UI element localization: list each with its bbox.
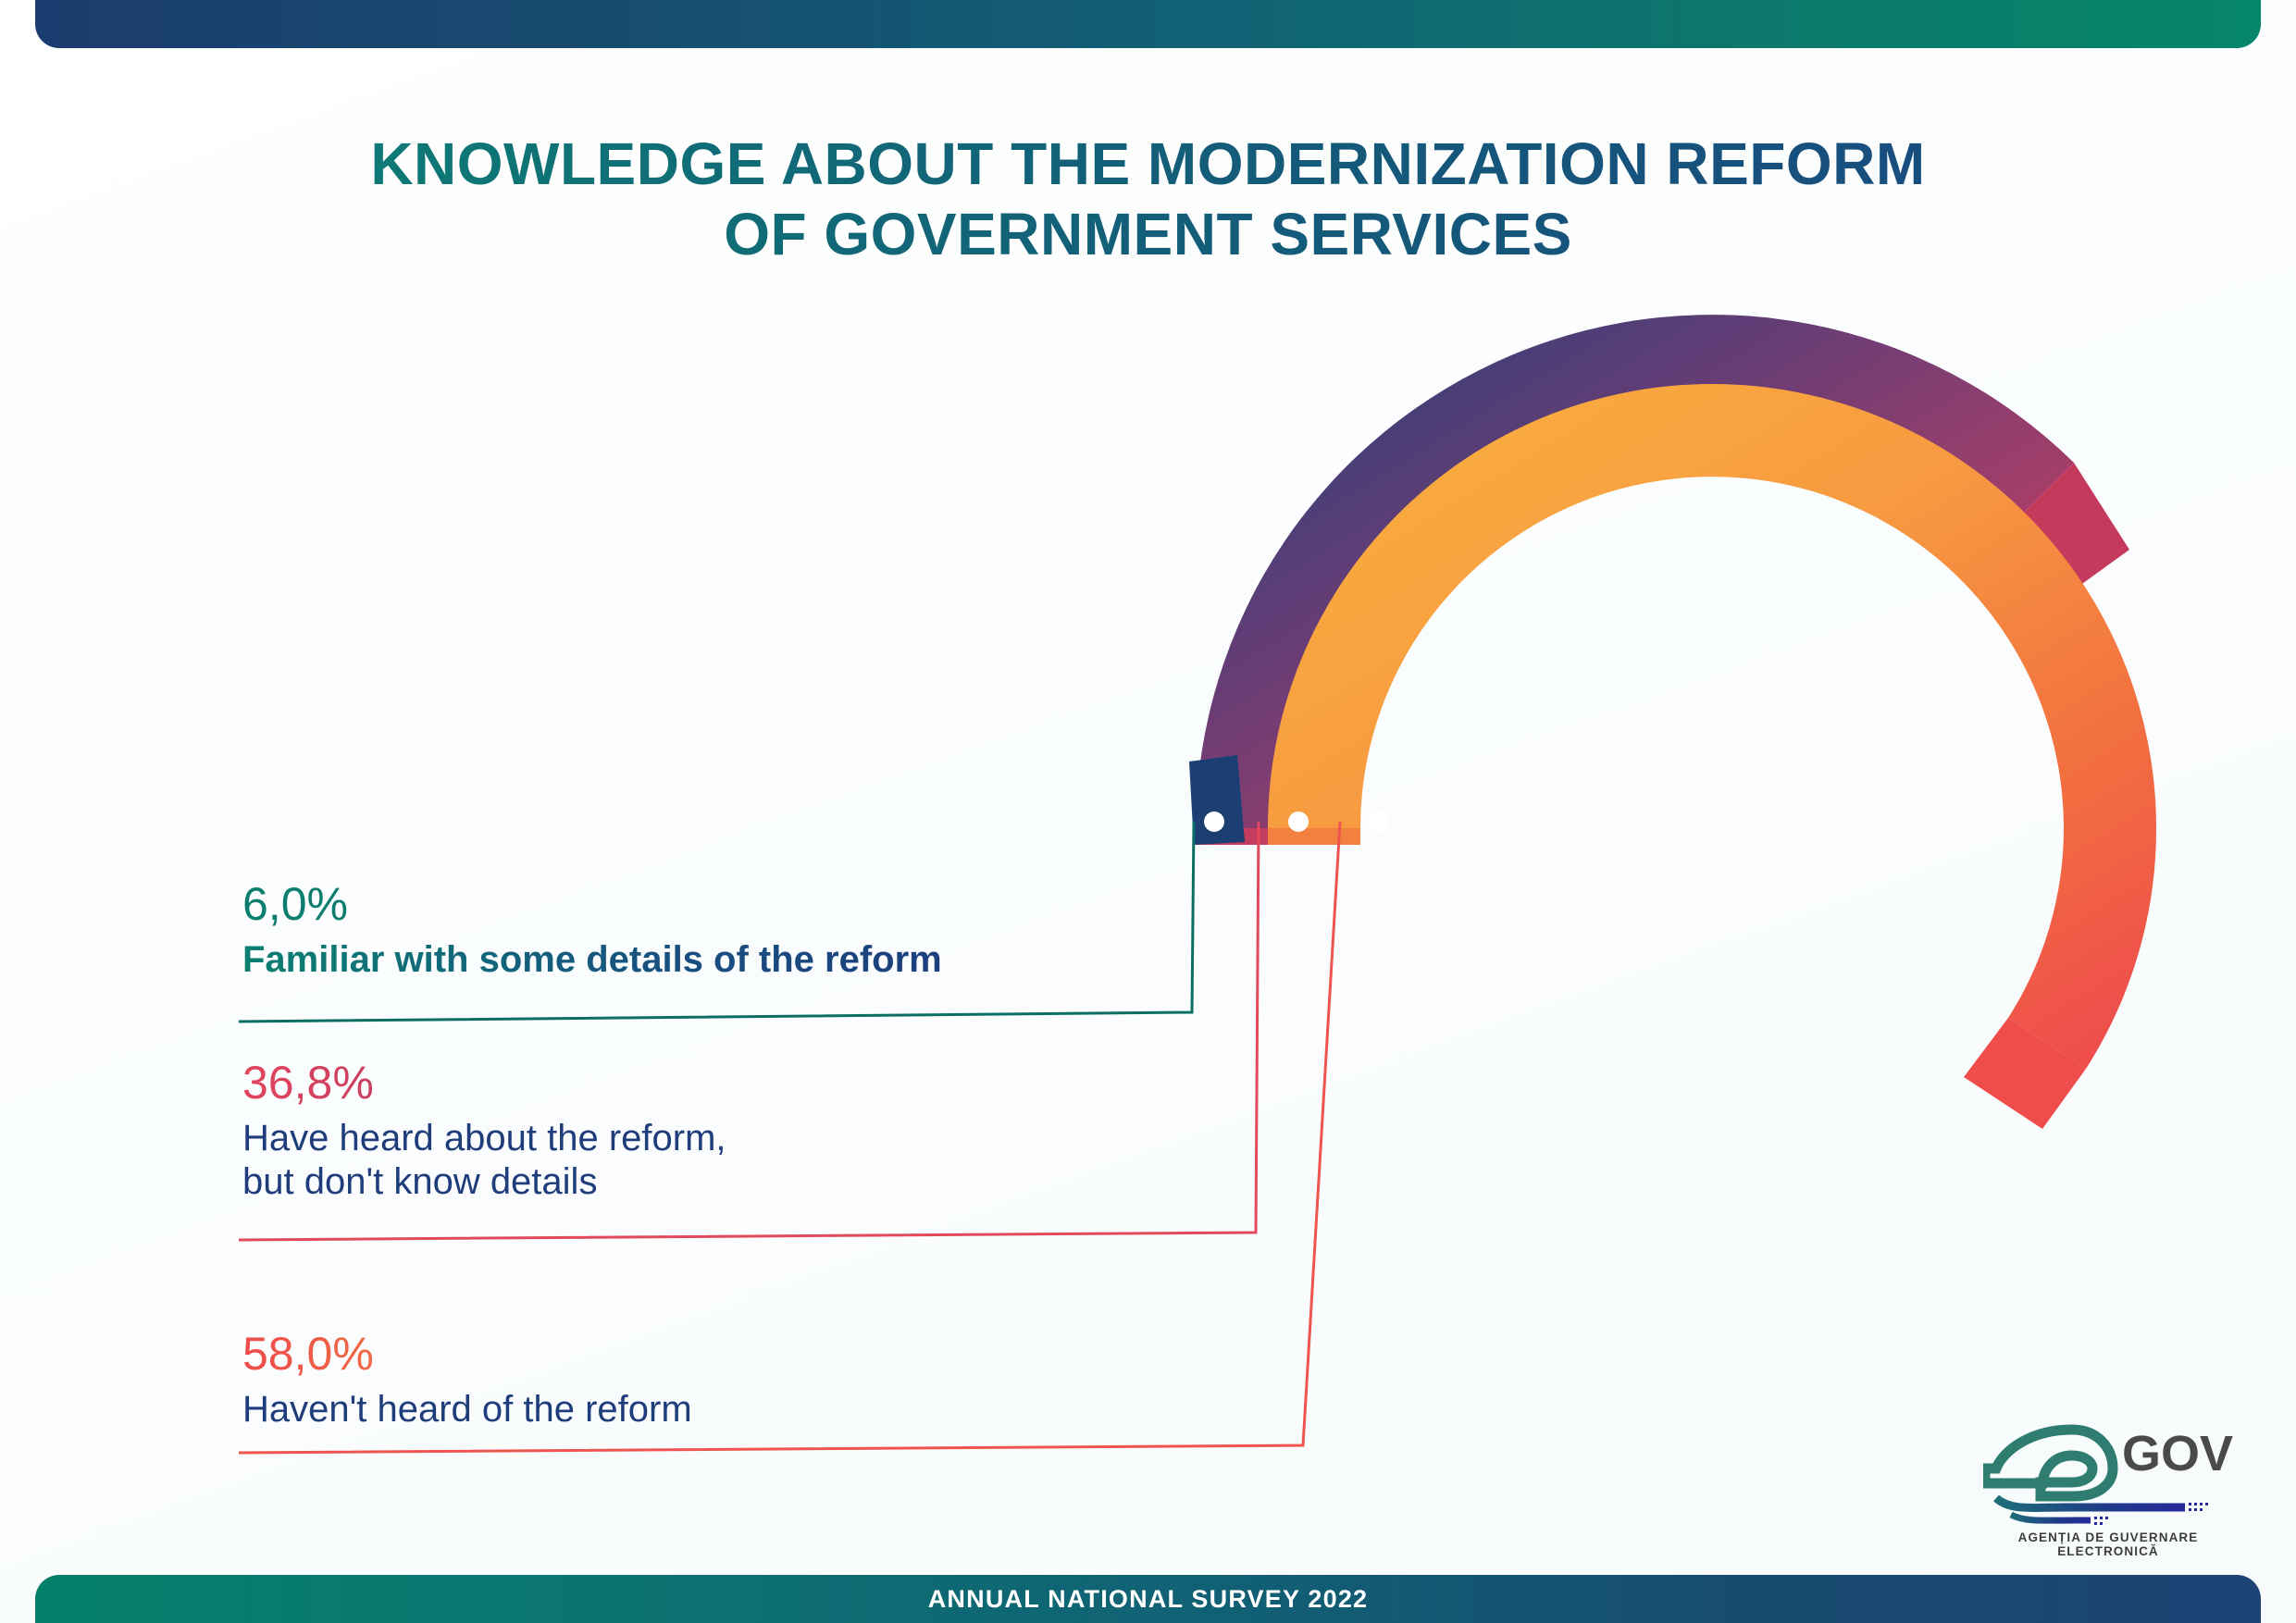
arc-segment-havent-heard xyxy=(1268,384,2156,1129)
legend-item-havent-heard[interactable]: 58,0% Haven't heard of the reform xyxy=(242,1331,692,1431)
footer-text: ANNUAL NATIONAL SURVEY 2022 xyxy=(928,1585,1369,1614)
arc-segment-familiar xyxy=(1189,755,1245,845)
legend-percent-have-heard: 36,8% xyxy=(242,1059,726,1106)
legend-label-familiar: Familiar with some details of the reform xyxy=(242,938,942,982)
logo-wordmark: GOV xyxy=(2122,1426,2233,1481)
legend-label-havent-heard: Haven't heard of the reform xyxy=(242,1388,692,1431)
anchor-dot-familiar xyxy=(1204,811,1224,832)
top-accent-bar xyxy=(35,0,2261,48)
egov-logo: GOV xyxy=(1983,1414,2233,1543)
anchor-dot-havent-heard xyxy=(1369,811,1389,832)
anchor-dot-have-heard xyxy=(1288,811,1309,832)
logo-e-icon xyxy=(1985,1430,2113,1496)
logo-ribbon-upper xyxy=(1996,1498,2185,1508)
legend-item-have-heard[interactable]: 36,8% Have heard about the reform, but d… xyxy=(242,1059,726,1204)
legend-percent-familiar: 6,0% xyxy=(242,881,942,927)
legend-item-familiar[interactable]: 6,0% Familiar with some details of the r… xyxy=(242,881,942,982)
legend-percent-havent-heard: 58,0% xyxy=(242,1331,692,1377)
logo-subtitle: AGENȚIA DE GUVERNARE ELECTRONICĂ xyxy=(1983,1530,2233,1558)
footer-bar: ANNUAL NATIONAL SURVEY 2022 xyxy=(35,1575,2261,1623)
infographic-canvas: KNOWLEDGE ABOUT THE MODERNIZATION REFORM… xyxy=(0,0,2296,1623)
logo-ribbon-lower xyxy=(2011,1515,2091,1520)
arc-segment-have-heard xyxy=(1196,315,2129,845)
page-title: KNOWLEDGE ABOUT THE MODERNIZATION REFORM… xyxy=(0,130,2296,269)
legend-label-have-heard: Have heard about the reform, but don't k… xyxy=(242,1117,726,1204)
